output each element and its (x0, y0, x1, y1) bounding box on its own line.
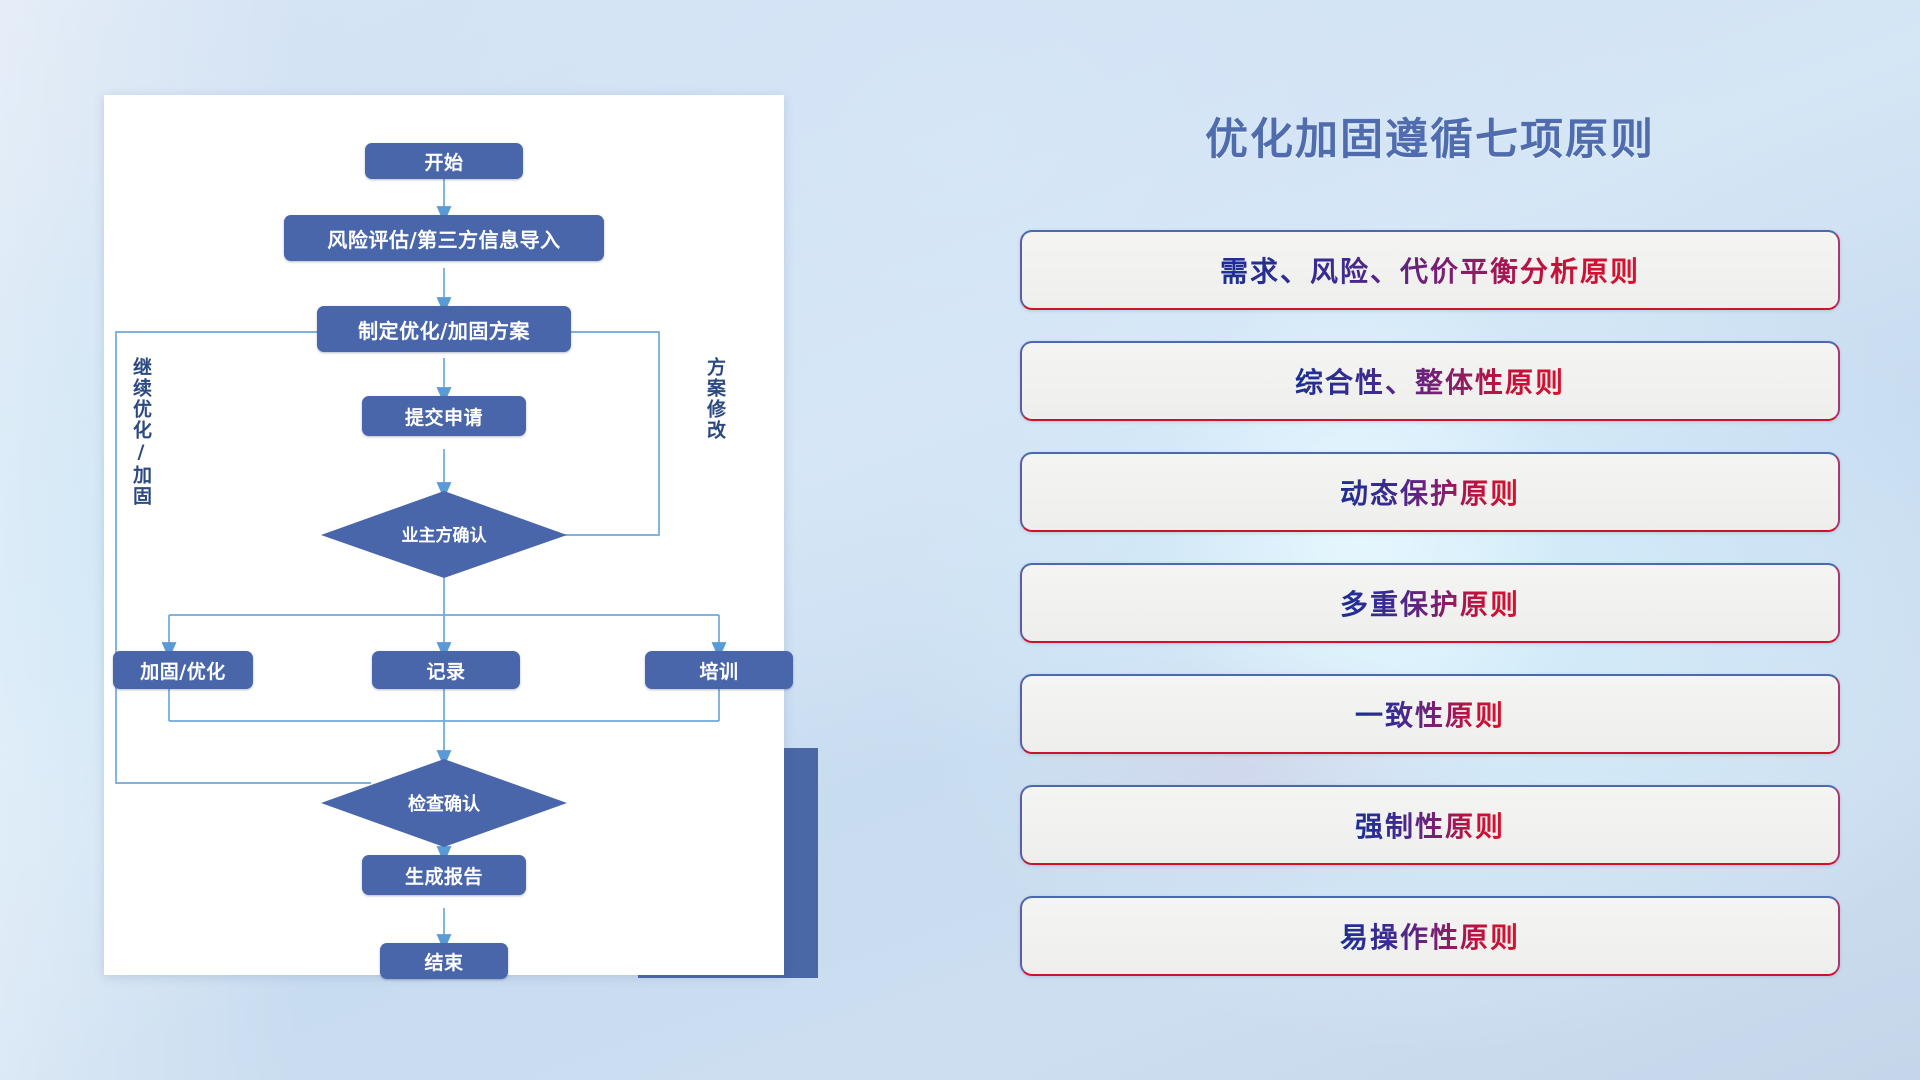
panel-title: 优化加固遵循七项原则 (1020, 105, 1840, 167)
flow-node-record[interactable]: 记录 (372, 651, 520, 689)
flow-node-generate-report[interactable]: 生成报告 (362, 855, 526, 895)
principle-item-1-label: 需求、风险、代价平衡分析原则 (1220, 250, 1640, 290)
flow-node-plan-label: 制定优化/加固方案 (358, 315, 530, 344)
flow-node-start-label: 开始 (424, 148, 463, 175)
flow-node-risk-assessment[interactable]: 风险评估/第三方信息导入 (284, 215, 604, 261)
flow-node-training[interactable]: 培训 (645, 651, 793, 689)
flow-node-end-label: 结束 (424, 948, 463, 975)
principle-item-3[interactable]: 动态保护原则 (1020, 452, 1840, 532)
flow-node-submit-application[interactable]: 提交申请 (362, 396, 526, 436)
flow-node-plan[interactable]: 制定优化/加固方案 (317, 306, 571, 352)
flow-node-start[interactable]: 开始 (365, 143, 523, 179)
principle-item-5-label: 一致性原则 (1355, 694, 1505, 734)
principles-list: 需求、风险、代价平衡分析原则 综合性、整体性原则 动态保护原则 多重保护原则 一… (1020, 230, 1840, 1007)
flow-node-risk-assessment-label: 风险评估/第三方信息导入 (327, 224, 560, 253)
flow-edge-label-plan-revision: 方案修改 (704, 357, 724, 441)
principle-item-5[interactable]: 一致性原则 (1020, 674, 1840, 754)
flow-node-reinforce-label: 加固/优化 (140, 657, 225, 684)
flow-node-generate-report-label: 生成报告 (405, 862, 483, 889)
principle-item-4[interactable]: 多重保护原则 (1020, 563, 1840, 643)
flow-edge-label-continue-optimize: 继续优化/加固 (130, 357, 150, 507)
principle-item-2-label: 综合性、整体性原则 (1295, 361, 1565, 401)
principle-item-6[interactable]: 强制性原则 (1020, 785, 1840, 865)
principle-item-1[interactable]: 需求、风险、代价平衡分析原则 (1020, 230, 1840, 310)
flow-node-submit-application-label: 提交申请 (405, 403, 483, 430)
decision-check-confirm-label: 检查确认 (408, 793, 481, 815)
flowchart-card: 业主方确认 检查确认 开始 风险评估/第三方信息导入 制定优化/加固方案 提交申… (104, 95, 784, 975)
principle-item-7[interactable]: 易操作性原则 (1020, 896, 1840, 976)
principles-panel: 优化加固遵循七项原则 需求、风险、代价平衡分析原则 综合性、整体性原则 动态保护… (1020, 100, 1840, 1000)
principle-item-4-label: 多重保护原则 (1340, 583, 1520, 623)
principle-item-7-label: 易操作性原则 (1340, 916, 1520, 956)
flow-node-reinforce[interactable]: 加固/优化 (113, 651, 253, 689)
slide-root: 业主方确认 检查确认 开始 风险评估/第三方信息导入 制定优化/加固方案 提交申… (0, 0, 1920, 1080)
principle-item-3-label: 动态保护原则 (1340, 472, 1520, 512)
flow-node-training-label: 培训 (699, 657, 738, 684)
principle-item-6-label: 强制性原则 (1355, 805, 1505, 845)
principle-item-2[interactable]: 综合性、整体性原则 (1020, 341, 1840, 421)
decision-owner-confirm-label: 业主方确认 (402, 525, 488, 546)
flow-node-record-label: 记录 (426, 657, 465, 684)
flow-node-end[interactable]: 结束 (380, 943, 508, 979)
